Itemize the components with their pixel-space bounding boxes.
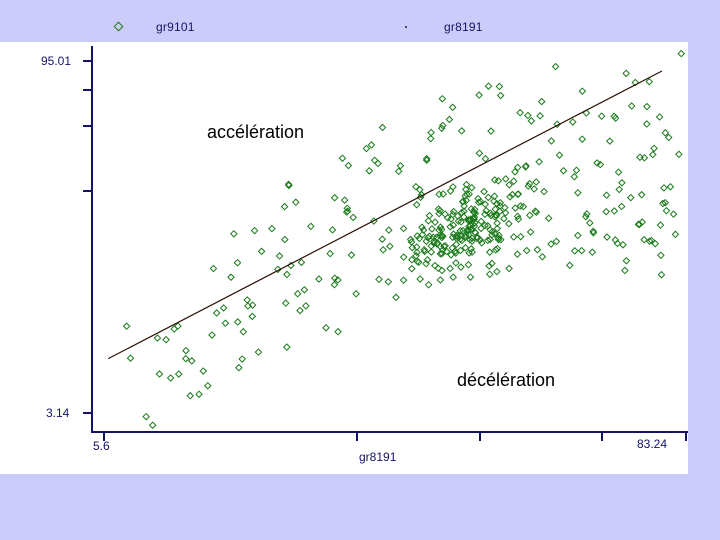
data-point	[619, 180, 625, 186]
data-point	[646, 79, 652, 85]
data-point	[440, 122, 446, 128]
data-point	[532, 208, 538, 214]
data-point	[409, 266, 415, 272]
legend-item-gr9101: gr9101	[112, 18, 195, 36]
data-point	[670, 211, 676, 217]
data-point	[481, 189, 487, 195]
data-point	[249, 313, 255, 319]
data-point	[400, 225, 406, 231]
data-point	[556, 152, 562, 158]
data-point	[658, 252, 664, 258]
data-point	[589, 249, 595, 255]
data-point	[372, 157, 378, 163]
data-point	[124, 323, 130, 329]
data-point	[414, 202, 420, 208]
data-point	[417, 276, 423, 282]
data-point	[235, 319, 241, 325]
data-point	[629, 103, 635, 109]
data-point	[575, 190, 581, 196]
data-point	[283, 300, 289, 306]
data-point	[303, 303, 309, 309]
data-point	[339, 155, 345, 161]
data-point	[469, 185, 475, 191]
data-point	[239, 356, 245, 362]
data-point	[425, 282, 431, 288]
data-point	[342, 197, 348, 203]
data-point	[518, 234, 524, 240]
data-point	[571, 174, 577, 180]
data-point	[385, 279, 391, 285]
data-point	[615, 169, 621, 175]
data-point	[171, 326, 177, 332]
data-point	[467, 274, 473, 280]
legend-label-gr9101: gr9101	[156, 20, 195, 34]
x-axis-tick	[601, 433, 603, 441]
data-point	[428, 249, 434, 255]
data-point	[524, 248, 530, 254]
data-point	[366, 168, 372, 174]
data-point	[426, 213, 432, 219]
y-axis-tick	[83, 89, 92, 91]
data-point	[476, 150, 482, 156]
regression-line	[108, 71, 662, 359]
data-point	[210, 265, 216, 271]
data-point	[536, 159, 542, 165]
y-axis-min-label: 3.14	[46, 406, 69, 420]
data-point	[234, 260, 240, 266]
data-point	[150, 422, 156, 428]
data-point	[657, 222, 663, 228]
y-axis-max-label: 95.01	[41, 54, 71, 68]
data-point	[570, 119, 576, 125]
data-point	[531, 186, 537, 192]
data-point	[503, 176, 509, 182]
data-point	[459, 128, 465, 134]
data-point	[494, 269, 500, 275]
data-point	[214, 310, 220, 316]
data-point	[240, 329, 246, 335]
data-point	[345, 162, 351, 168]
data-point	[379, 236, 385, 242]
data-point	[348, 252, 354, 258]
data-point	[527, 229, 533, 235]
data-point	[451, 209, 457, 215]
data-point	[458, 264, 464, 270]
data-point	[579, 136, 585, 142]
data-point	[298, 259, 304, 265]
data-point	[527, 212, 533, 218]
data-point	[575, 232, 581, 238]
data-point	[425, 218, 431, 224]
data-point	[397, 163, 403, 169]
data-point	[323, 325, 329, 331]
diamond-marker-icon	[112, 20, 126, 34]
data-point	[401, 254, 407, 260]
data-points-layer	[124, 50, 685, 428]
y-axis-line	[91, 46, 93, 433]
data-point	[579, 248, 585, 254]
data-point	[154, 335, 160, 341]
data-point	[156, 371, 162, 377]
data-point	[511, 234, 517, 240]
data-point	[252, 228, 258, 234]
data-point	[517, 110, 523, 116]
data-point	[428, 129, 434, 135]
data-point	[437, 277, 443, 283]
data-point	[255, 349, 261, 355]
data-point	[587, 220, 593, 226]
data-point	[663, 208, 669, 214]
data-point	[641, 237, 647, 243]
data-point	[205, 383, 211, 389]
data-point	[236, 365, 242, 371]
data-point	[622, 267, 628, 273]
data-point	[488, 128, 494, 134]
data-point	[432, 219, 438, 225]
data-point	[487, 249, 493, 255]
data-point	[539, 98, 545, 104]
data-point	[353, 291, 359, 297]
data-point	[506, 265, 512, 271]
data-point	[661, 185, 667, 191]
data-point	[533, 179, 539, 185]
data-point	[308, 223, 314, 229]
data-point	[284, 344, 290, 350]
data-point	[650, 151, 656, 157]
legend-item-gr8191: gr8191	[400, 18, 483, 36]
data-point	[447, 265, 453, 271]
data-point	[607, 138, 613, 144]
data-point	[282, 236, 288, 242]
data-point	[168, 375, 174, 381]
data-point	[176, 371, 182, 377]
data-point	[644, 104, 650, 110]
data-point	[657, 114, 663, 120]
data-point	[534, 247, 540, 253]
data-point	[623, 258, 629, 264]
data-point	[401, 277, 407, 283]
data-point	[672, 231, 678, 237]
data-point	[189, 358, 195, 364]
data-point	[619, 203, 625, 209]
data-point	[485, 83, 491, 89]
data-point	[393, 294, 399, 300]
data-point	[450, 104, 456, 110]
data-point	[620, 242, 626, 248]
data-point	[231, 231, 237, 237]
data-point	[439, 125, 445, 131]
data-point	[276, 253, 282, 259]
data-point	[293, 199, 299, 205]
data-point	[376, 276, 382, 282]
data-point	[667, 184, 673, 190]
data-point	[546, 215, 552, 221]
data-point	[301, 287, 307, 293]
data-point	[644, 121, 650, 127]
slide: gr9101 gr8191 95.01 3.14 5.6 83.24 gr819…	[0, 0, 720, 540]
annotation-acceleration: accélération	[207, 122, 304, 143]
data-point	[350, 214, 356, 220]
data-point	[651, 145, 657, 151]
data-point	[200, 368, 206, 374]
data-point	[537, 113, 543, 119]
data-point	[143, 414, 149, 420]
dot-marker-icon	[400, 20, 414, 34]
data-point	[450, 274, 456, 280]
data-point	[604, 234, 610, 240]
data-point	[553, 63, 559, 69]
data-point	[387, 243, 393, 249]
data-point	[528, 118, 534, 124]
data-point	[368, 142, 374, 148]
data-point	[506, 221, 512, 227]
data-point	[442, 211, 448, 217]
legend-label-gr8191: gr8191	[444, 20, 483, 34]
data-point	[501, 216, 507, 222]
data-point	[221, 305, 227, 311]
data-point	[228, 274, 234, 280]
data-point	[163, 337, 169, 343]
data-point	[396, 168, 402, 174]
data-point	[295, 291, 301, 297]
data-point	[639, 192, 645, 198]
data-point	[297, 307, 303, 313]
data-point	[209, 332, 215, 338]
x-axis-min-label: 5.6	[93, 439, 110, 453]
annotation-deceleration: décélération	[457, 370, 555, 391]
data-point	[331, 282, 337, 288]
data-point	[380, 247, 386, 253]
data-point	[485, 194, 491, 200]
x-axis-title: gr8191	[359, 450, 396, 464]
data-point	[332, 195, 338, 201]
data-point	[445, 215, 451, 221]
data-point	[498, 92, 504, 98]
data-point	[525, 112, 531, 118]
data-point	[623, 70, 629, 76]
data-point	[603, 192, 609, 198]
data-point	[603, 209, 609, 215]
y-axis-tick	[83, 60, 92, 62]
data-point	[281, 204, 287, 210]
data-point	[439, 267, 445, 273]
data-point	[447, 188, 453, 194]
data-point	[676, 151, 682, 157]
y-axis-tick	[83, 190, 92, 192]
data-point	[628, 195, 634, 201]
data-point	[579, 88, 585, 94]
y-axis-tick	[83, 412, 92, 414]
x-axis-max-label: 83.24	[637, 437, 667, 451]
data-point	[541, 188, 547, 194]
data-point	[514, 251, 520, 257]
data-point	[375, 160, 381, 166]
data-point	[678, 50, 684, 56]
data-point	[327, 250, 333, 256]
data-point	[446, 116, 452, 122]
data-point	[196, 391, 202, 397]
data-point	[487, 271, 493, 277]
data-point	[429, 226, 435, 232]
data-point	[611, 208, 617, 214]
x-axis-tick	[685, 433, 687, 441]
data-point	[476, 92, 482, 98]
x-axis-tick	[356, 433, 358, 441]
data-point	[548, 138, 554, 144]
data-point	[658, 272, 664, 278]
data-point	[567, 262, 573, 268]
data-point	[335, 329, 341, 335]
data-point	[450, 184, 456, 190]
x-axis-tick	[479, 433, 481, 441]
data-point	[465, 262, 471, 268]
data-point	[573, 167, 579, 173]
data-point	[363, 145, 369, 151]
data-point	[379, 124, 385, 130]
data-point	[533, 209, 539, 215]
data-point	[284, 271, 290, 277]
data-point	[599, 113, 605, 119]
x-axis-line	[91, 431, 688, 433]
data-point	[244, 297, 250, 303]
data-point	[127, 355, 133, 361]
data-point	[439, 96, 445, 102]
data-point	[428, 136, 434, 142]
data-point	[329, 227, 335, 233]
data-point	[572, 248, 578, 254]
data-point	[386, 227, 392, 233]
data-point	[453, 260, 459, 266]
data-point	[496, 83, 502, 89]
data-point	[258, 248, 264, 254]
y-axis-tick	[83, 125, 92, 127]
data-point	[222, 320, 228, 326]
data-point	[507, 194, 513, 200]
data-point	[187, 393, 193, 399]
data-point	[316, 276, 322, 282]
data-point	[269, 226, 275, 232]
data-point	[539, 254, 545, 260]
data-point	[616, 186, 622, 192]
data-point	[560, 168, 566, 174]
scatter-plot-graphic	[0, 42, 688, 474]
data-point	[183, 356, 189, 362]
data-point	[183, 348, 189, 354]
